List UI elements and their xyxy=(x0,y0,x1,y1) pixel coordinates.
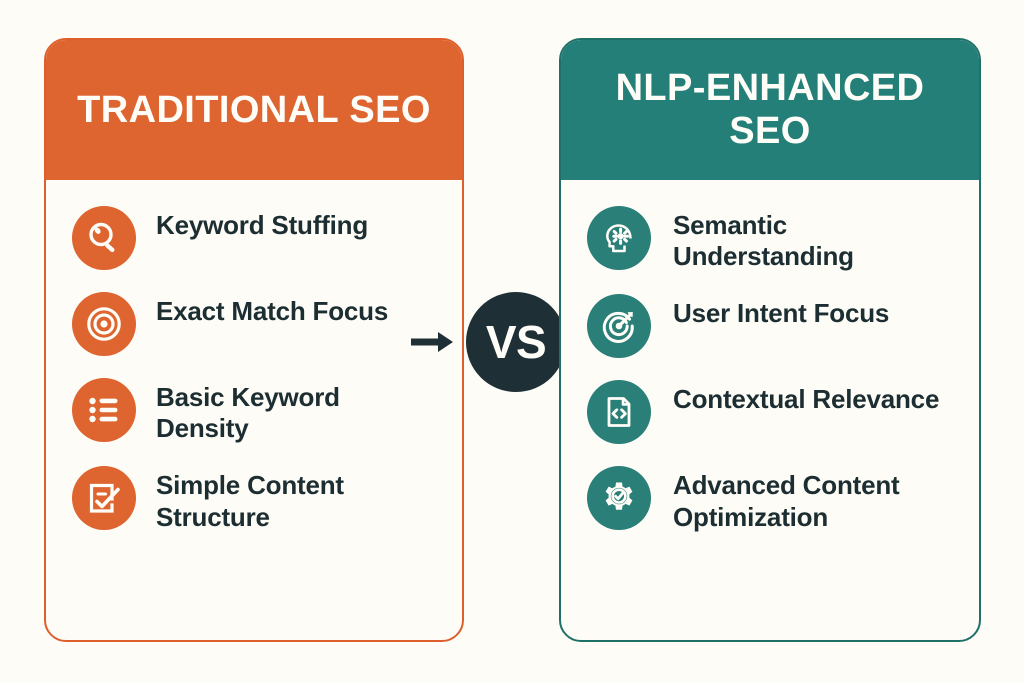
versus-label: VS xyxy=(486,319,546,365)
head-brain-gear-icon xyxy=(587,206,651,270)
versus-group: VS xyxy=(410,292,575,392)
card-title-traditional: TRADITIONAL SEO xyxy=(77,89,431,132)
feature-label: User Intent Focus xyxy=(673,294,889,329)
comparison-card-nlp: NLP-ENHANCED SEO xyxy=(559,38,981,642)
feature-row: Advanced Content Optimization xyxy=(587,466,957,532)
versus-badge: VS xyxy=(466,292,566,392)
feature-row: Exact Match Focus xyxy=(72,292,440,356)
arrow-right-icon xyxy=(410,328,456,356)
card-title-nlp: NLP-ENHANCED SEO xyxy=(579,67,961,152)
infographic-canvas: TRADITIONAL SEO Keyword Stuffing xyxy=(0,0,1024,683)
feature-label: Basic Keyword Density xyxy=(156,378,426,444)
document-code-icon xyxy=(587,380,651,444)
comparison-card-traditional: TRADITIONAL SEO Keyword Stuffing xyxy=(44,38,464,642)
feature-row: Contextual Relevance xyxy=(587,380,957,444)
target-arrow-icon xyxy=(587,294,651,358)
checklist-edit-icon xyxy=(72,466,136,530)
feature-row: Semantic Understanding xyxy=(587,206,957,272)
card-header-nlp: NLP-ENHANCED SEO xyxy=(561,40,979,180)
feature-row: Simple Content Structure xyxy=(72,466,440,532)
feature-row: Basic Keyword Density xyxy=(72,378,440,444)
card-body-traditional: Keyword Stuffing Exact Match Focus xyxy=(46,180,462,640)
feature-label: Advanced Content Optimization xyxy=(673,466,943,532)
card-body-nlp: Semantic Understanding User Intent Focus xyxy=(561,180,979,640)
feature-label: Contextual Relevance xyxy=(673,380,939,415)
feature-label: Keyword Stuffing xyxy=(156,206,368,241)
target-rings-icon xyxy=(72,292,136,356)
gear-check-icon xyxy=(587,466,651,530)
magnifier-icon xyxy=(72,206,136,270)
feature-row: Keyword Stuffing xyxy=(72,206,440,270)
feature-label: Exact Match Focus xyxy=(156,292,388,327)
bullet-list-icon xyxy=(72,378,136,442)
feature-row: User Intent Focus xyxy=(587,294,957,358)
feature-label: Simple Content Structure xyxy=(156,466,426,532)
feature-label: Semantic Understanding xyxy=(673,206,943,272)
card-header-traditional: TRADITIONAL SEO xyxy=(46,40,462,180)
